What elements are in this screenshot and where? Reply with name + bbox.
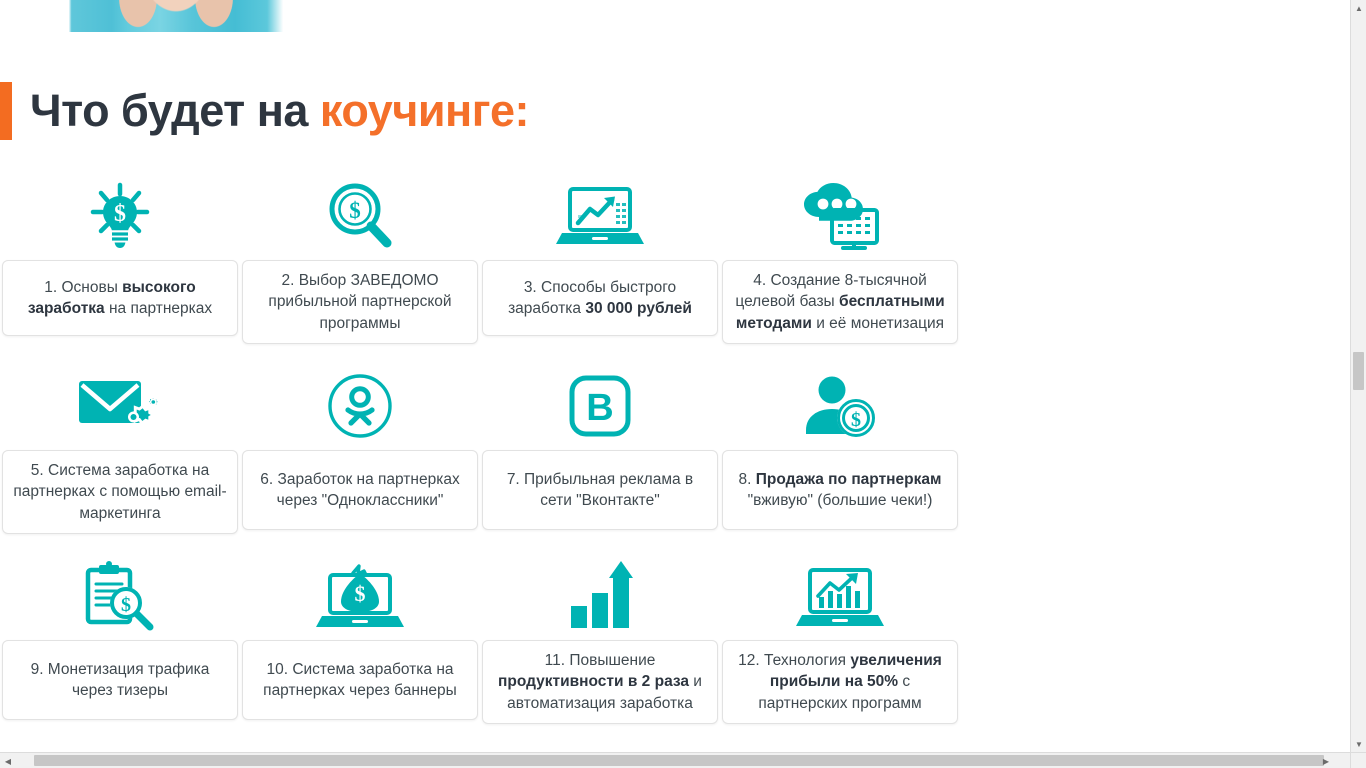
feature-card-12[interactable]: 12. Технология увеличения прибыли на 50%… — [722, 640, 958, 724]
svg-text:В: В — [586, 387, 613, 429]
feature-card-12-text: 12. Технология увеличения прибыли на 50%… — [733, 650, 947, 714]
feature-cell-6: 6. Заработок на партнерках через "Однокл… — [240, 362, 480, 552]
feature-card-5[interactable]: 5. Система заработка на партнерках с пом… — [2, 450, 238, 534]
svg-text:$: $ — [851, 409, 861, 431]
person-coin-icon: $ — [802, 362, 878, 450]
feature-card-9-text: 9. Монетизация трафика через тизеры — [13, 659, 227, 702]
horizontal-scrollbar-thumb[interactable] — [34, 755, 1324, 766]
feature-card-3-text: 3. Способы быстрого заработка 30 000 руб… — [493, 277, 707, 320]
feature-card-6-text: 6. Заработок на партнерках через "Однокл… — [253, 469, 467, 512]
page-title: Что будет на коучинге: — [30, 85, 529, 137]
hero-photo-fade — [42, 0, 310, 32]
feature-card-4-text: 4. Создание 8-тысячной целевой базы бесп… — [733, 270, 947, 334]
feature-cell-3: 3. Способы быстрого заработка 30 000 руб… — [480, 172, 720, 362]
svg-text:$: $ — [114, 201, 126, 227]
feature-card-7-text: 7. Прибыльная реклама в сети "Вконтакте" — [493, 469, 707, 512]
feature-card-1[interactable]: 1. Основы высокого заработка на партнерк… — [2, 260, 238, 336]
feature-cell-1: $ 1. Основы высокого заработка на партне… — [0, 172, 240, 362]
feature-card-9[interactable]: 9. Монетизация трафика через тизеры — [2, 640, 238, 720]
svg-text:$: $ — [121, 594, 131, 616]
feature-cell-8: $ 8. Продажа по партнеркам "вживую" (бол… — [720, 362, 960, 552]
features-row-3: $ 9. Монетизация трафика через тизеры $ — [0, 552, 970, 742]
lightbulb-dollar-icon: $ — [83, 172, 157, 260]
feature-card-10-text: 10. Система заработка на партнерках чере… — [253, 659, 467, 702]
hero-photo — [42, 0, 310, 32]
svg-text:$: $ — [349, 198, 361, 223]
feature-card-2[interactable]: 2. Выбор ЗАВЕДОМО прибыльной партнерской… — [242, 260, 478, 344]
svg-text:$: $ — [355, 581, 366, 606]
heading-accent-bar — [0, 82, 12, 140]
feature-cell-10: $ 10. Система заработка на партнерках че… — [240, 552, 480, 742]
feature-card-6[interactable]: 6. Заработок на партнерках через "Однокл… — [242, 450, 478, 530]
feature-card-2-text: 2. Выбор ЗАВЕДОМО прибыльной партнерской… — [253, 270, 467, 334]
features-row-2: 5. Система заработка на партнерках с пом… — [0, 362, 970, 552]
vkontakte-icon: В — [569, 362, 631, 450]
features-row-1: $ 1. Основы высокого заработка на партне… — [0, 172, 970, 362]
feature-card-5-text: 5. Система заработка на партнерках с пом… — [13, 460, 227, 524]
horizontal-scrollbar[interactable]: ◀ ▶ — [0, 752, 1350, 768]
scrollbar-corner — [1350, 752, 1366, 768]
feature-card-11-text: 11. Повышение продуктивности в 2 раза и … — [493, 650, 707, 714]
page-title-plain: Что будет на — [30, 85, 320, 136]
feature-card-10[interactable]: 10. Система заработка на партнерках чере… — [242, 640, 478, 720]
laptop-growth-chart-icon — [554, 172, 646, 260]
feature-card-8-text: 8. Продажа по партнеркам "вживую" (больш… — [733, 469, 947, 512]
feature-cell-2: $ 2. Выбор ЗАВЕДОМО прибыльной партнерск… — [240, 172, 480, 362]
envelope-gears-icon — [75, 362, 165, 450]
feature-cell-11: 11. Повышение продуктивности в 2 раза и … — [480, 552, 720, 742]
laptop-bar-chart-arrow-icon — [796, 552, 884, 640]
feature-cell-5: 5. Система заработка на партнерках с пом… — [0, 362, 240, 552]
laptop-money-bag-icon: $ — [314, 552, 406, 640]
bar-chart-arrow-icon — [567, 552, 633, 640]
feature-cell-9: $ 9. Монетизация трафика через тизеры — [0, 552, 240, 742]
cloud-database-monitor-icon — [799, 172, 881, 260]
scroll-right-arrow-icon[interactable]: ▶ — [1318, 753, 1334, 768]
feature-cell-7: В 7. Прибыльная реклама в сети "Вконтакт… — [480, 362, 720, 552]
clipboard-magnifier-dollar-icon: $ — [82, 552, 158, 640]
feature-card-1-text: 1. Основы высокого заработка на партнерк… — [13, 277, 227, 320]
feature-card-8[interactable]: 8. Продажа по партнеркам "вживую" (больш… — [722, 450, 958, 530]
section-heading: Что будет на коучинге: — [0, 82, 529, 140]
features-grid: $ 1. Основы высокого заработка на партне… — [0, 172, 970, 742]
feature-card-11[interactable]: 11. Повышение продуктивности в 2 раза и … — [482, 640, 718, 724]
vertical-scrollbar-thumb[interactable] — [1353, 352, 1364, 390]
scroll-up-arrow-icon[interactable]: ▲ — [1351, 0, 1366, 16]
odnoklassniki-icon — [327, 362, 393, 450]
scroll-left-arrow-icon[interactable]: ◀ — [0, 753, 16, 768]
feature-cell-12: 12. Технология увеличения прибыли на 50%… — [720, 552, 960, 742]
vertical-scrollbar[interactable]: ▲ ▼ — [1350, 0, 1366, 752]
page-root: Что будет на коучинге: — [0, 0, 1366, 768]
feature-cell-4: 4. Создание 8-тысячной целевой базы бесп… — [720, 172, 960, 362]
feature-card-3[interactable]: 3. Способы быстрого заработка 30 000 руб… — [482, 260, 718, 336]
feature-card-4[interactable]: 4. Создание 8-тысячной целевой базы бесп… — [722, 260, 958, 344]
magnifier-dollar-icon: $ — [326, 172, 394, 260]
feature-card-7[interactable]: 7. Прибыльная реклама в сети "Вконтакте" — [482, 450, 718, 530]
scroll-down-arrow-icon[interactable]: ▼ — [1351, 736, 1366, 752]
page-title-accent: коучинге: — [320, 85, 529, 136]
